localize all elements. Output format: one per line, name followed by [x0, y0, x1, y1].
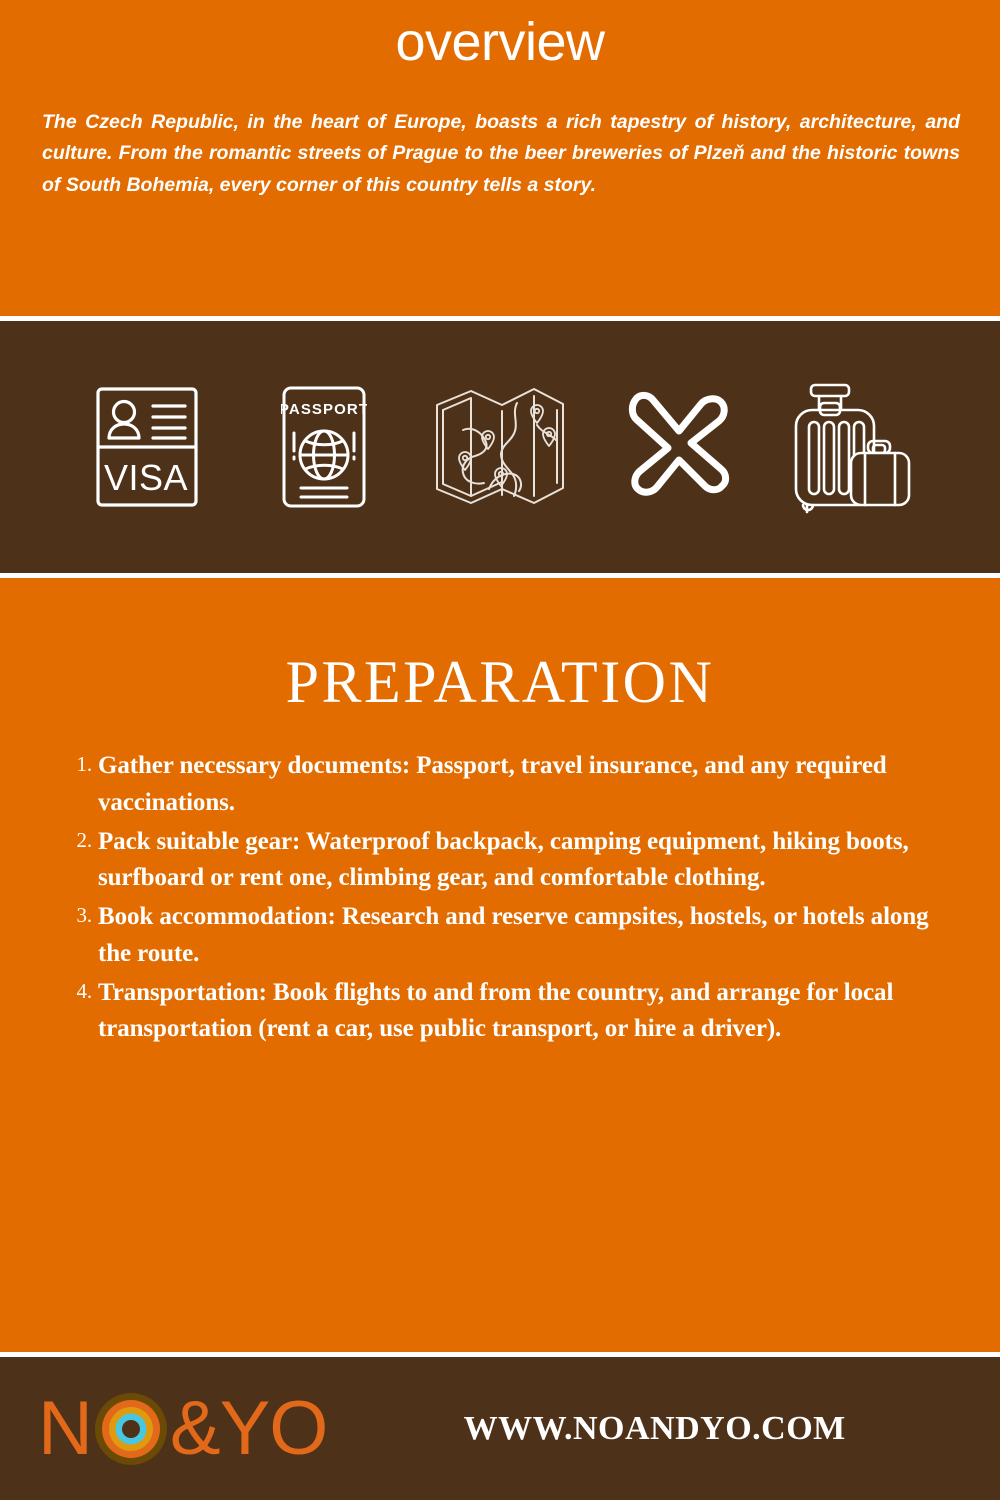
list-item: Pack suitable gear: Waterproof backpack,…	[64, 824, 952, 898]
list-item: Book accommodation: Research and reserve…	[64, 899, 952, 973]
list-item: Transportation: Book flights to and from…	[64, 975, 952, 1049]
travel-infographic-poster: overview The Czech Republic, in the hear…	[0, 0, 1000, 1500]
page-title: overview	[0, 0, 1000, 71]
list-item: Gather necessary documents: Passport, tr…	[64, 748, 952, 822]
footer-section: N & YO WWW.NOANDYO.COM	[0, 1357, 1000, 1500]
logo-ampersand: &	[170, 1391, 220, 1467]
logo-ring-icon	[94, 1392, 168, 1466]
folded-map-icon	[425, 367, 575, 527]
icon-strip-section: VISA PASSPORT	[0, 321, 1000, 573]
svg-text:VISA: VISA	[104, 457, 188, 498]
passport-icon: PASSPORT	[249, 367, 399, 527]
svg-text:PASSPORT: PASSPORT	[281, 401, 367, 418]
logo-letter-n: N	[38, 1391, 92, 1467]
airplane-icon	[602, 367, 752, 527]
brand-logo[interactable]: N & YO	[38, 1391, 327, 1467]
website-url[interactable]: WWW.NOANDYO.COM	[327, 1410, 942, 1448]
preparation-title: PREPARATION	[0, 578, 1000, 712]
overview-paragraph: The Czech Republic, in the heart of Euro…	[0, 71, 1000, 202]
logo-letters-yo: YO	[220, 1391, 328, 1467]
luggage-icon	[778, 367, 928, 527]
overview-section: overview The Czech Republic, in the hear…	[0, 0, 1000, 316]
visa-card-icon: VISA	[72, 367, 222, 527]
preparation-list: Gather necessary documents: Passport, tr…	[0, 712, 1000, 1048]
preparation-section: PREPARATION Gather necessary documents: …	[0, 578, 1000, 1352]
